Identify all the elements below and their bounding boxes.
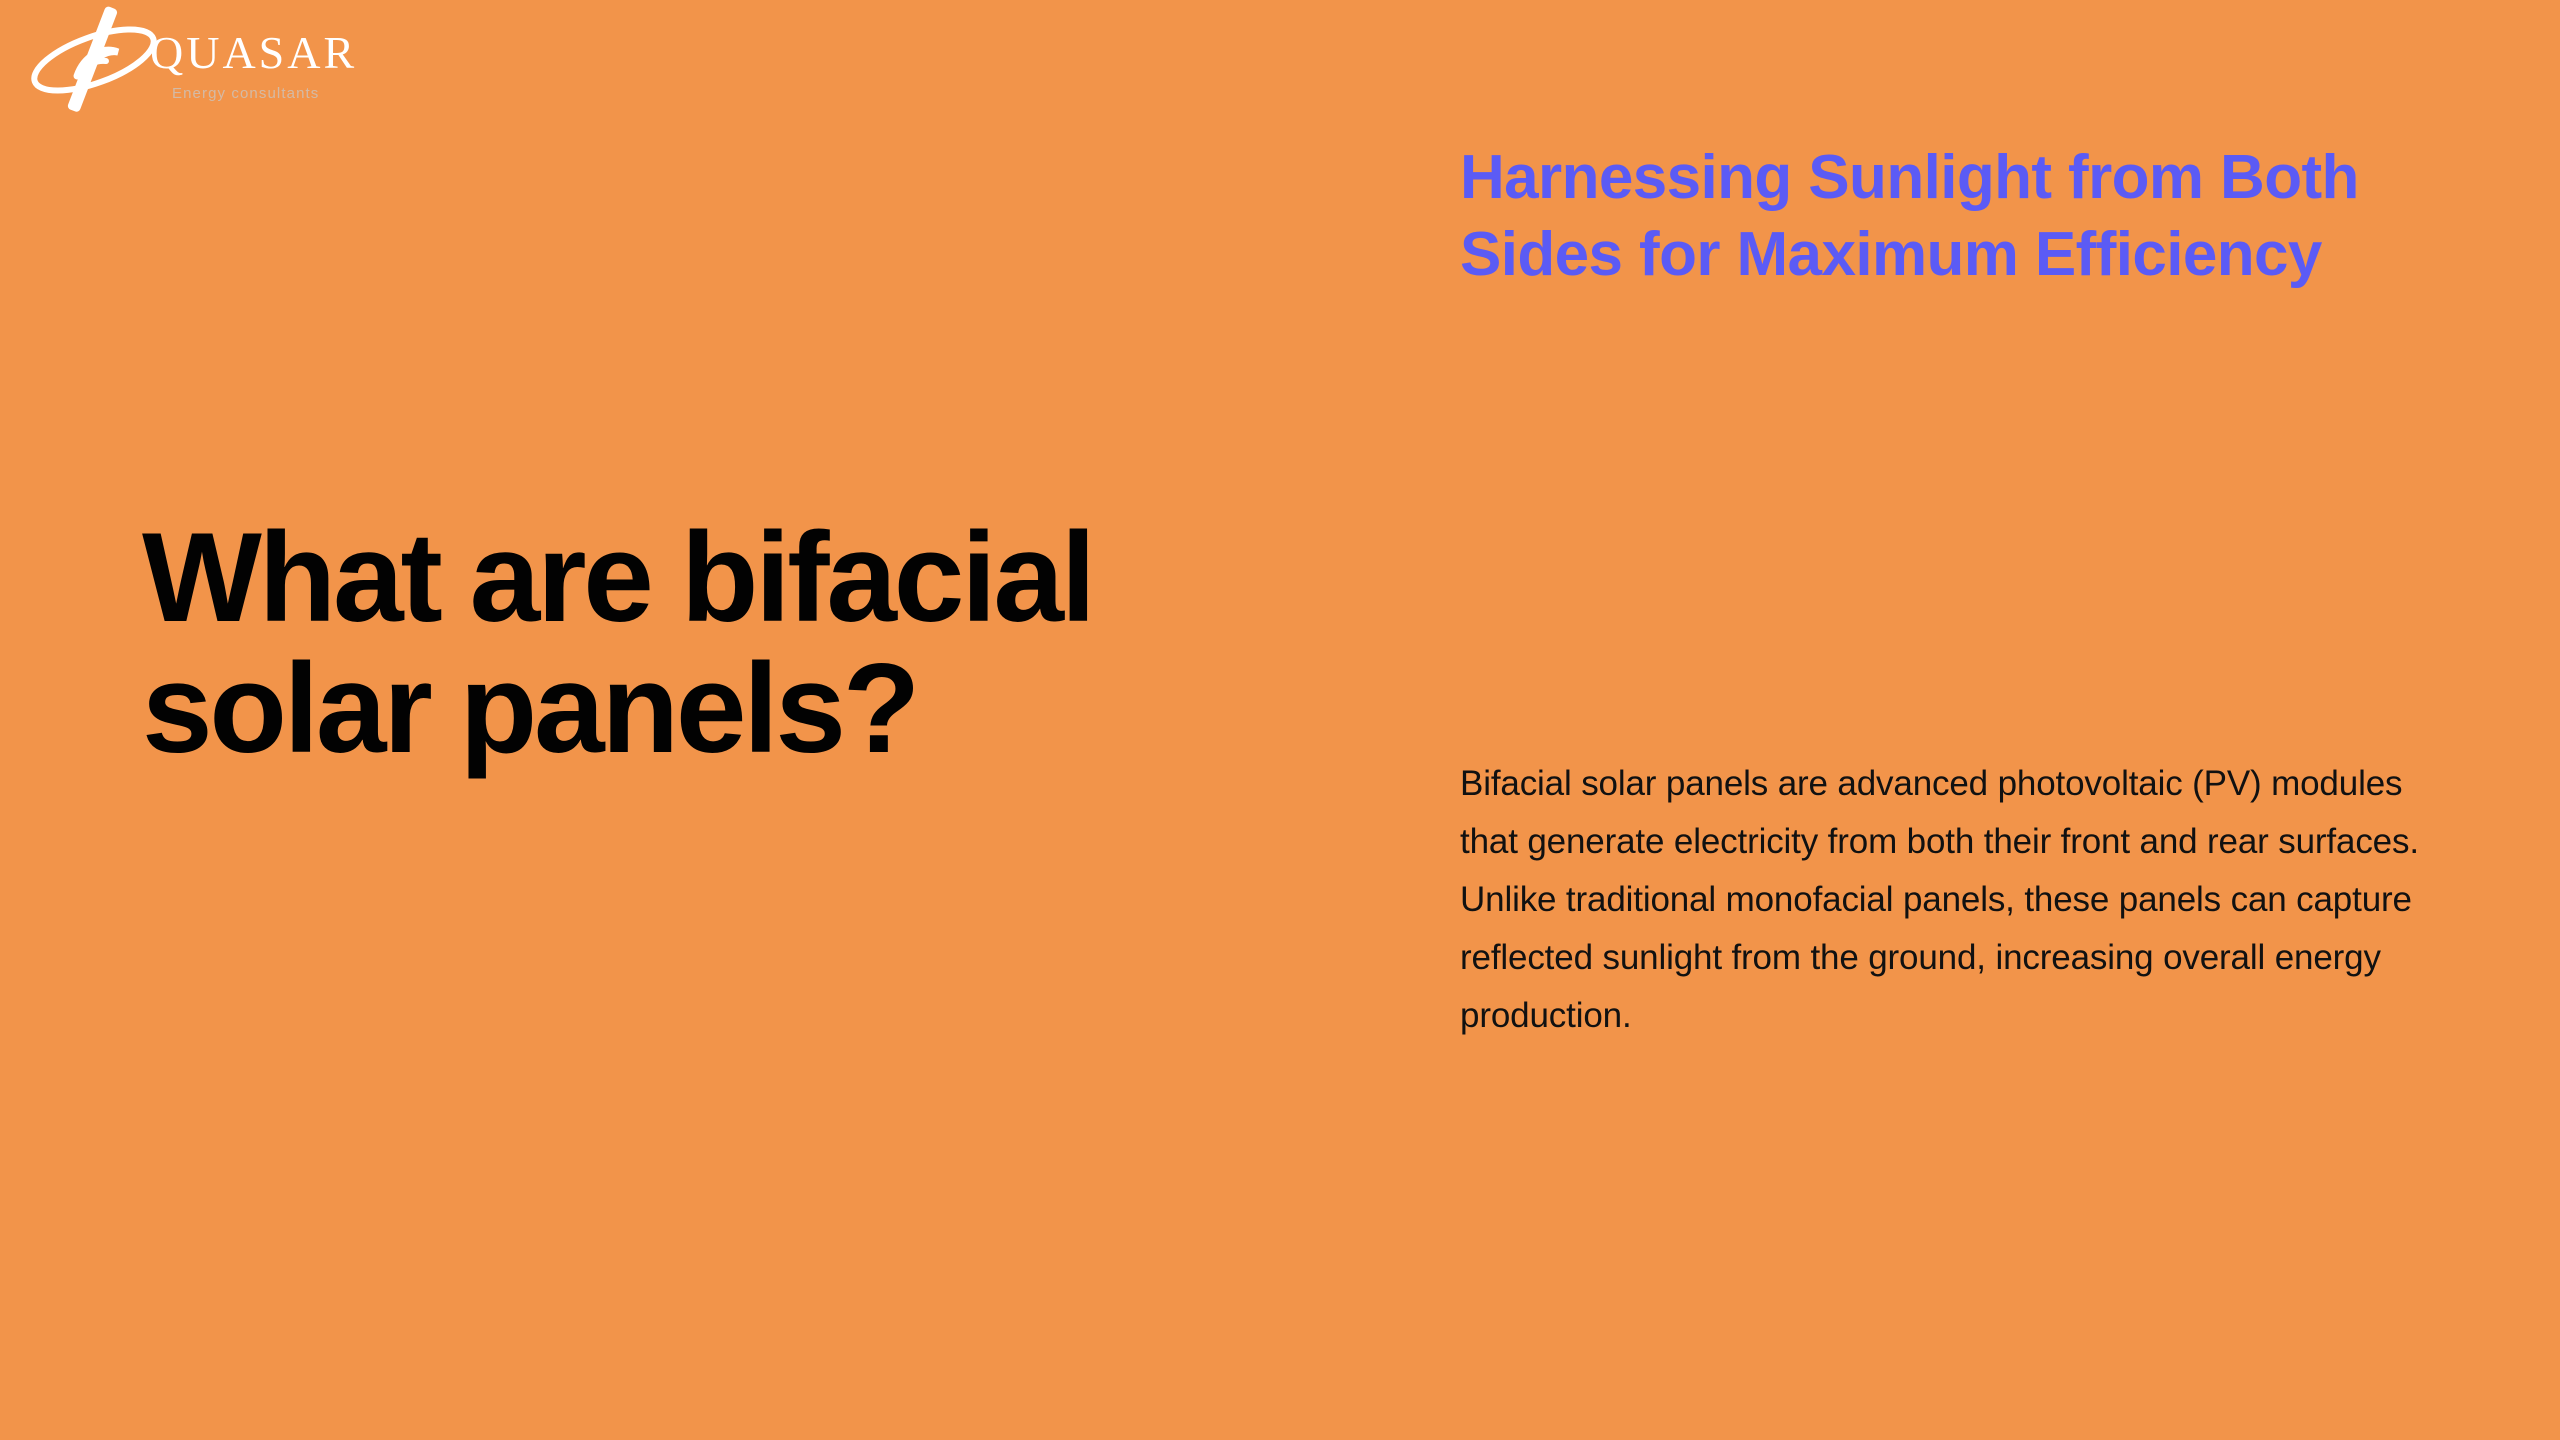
brand-tagline: Energy consultants [172,86,319,101]
content-column: Harnessing Sunlight from Both Sides for … [1460,0,2470,1440]
headline-column: What are bifacial solar panels? [142,512,1242,774]
brand-logo[interactable]: QUASAR Energy consultants [22,4,352,116]
slide-canvas: QUASAR Energy consultants What are bifac… [0,0,2560,1440]
quasar-orbit-icon [22,4,162,114]
page-title: What are bifacial solar panels? [142,512,1242,774]
brand-wordmark: QUASAR [150,30,357,76]
section-subtitle: Harnessing Sunlight from Both Sides for … [1460,140,2460,294]
body-paragraph: Bifacial solar panels are advanced photo… [1460,755,2465,1045]
